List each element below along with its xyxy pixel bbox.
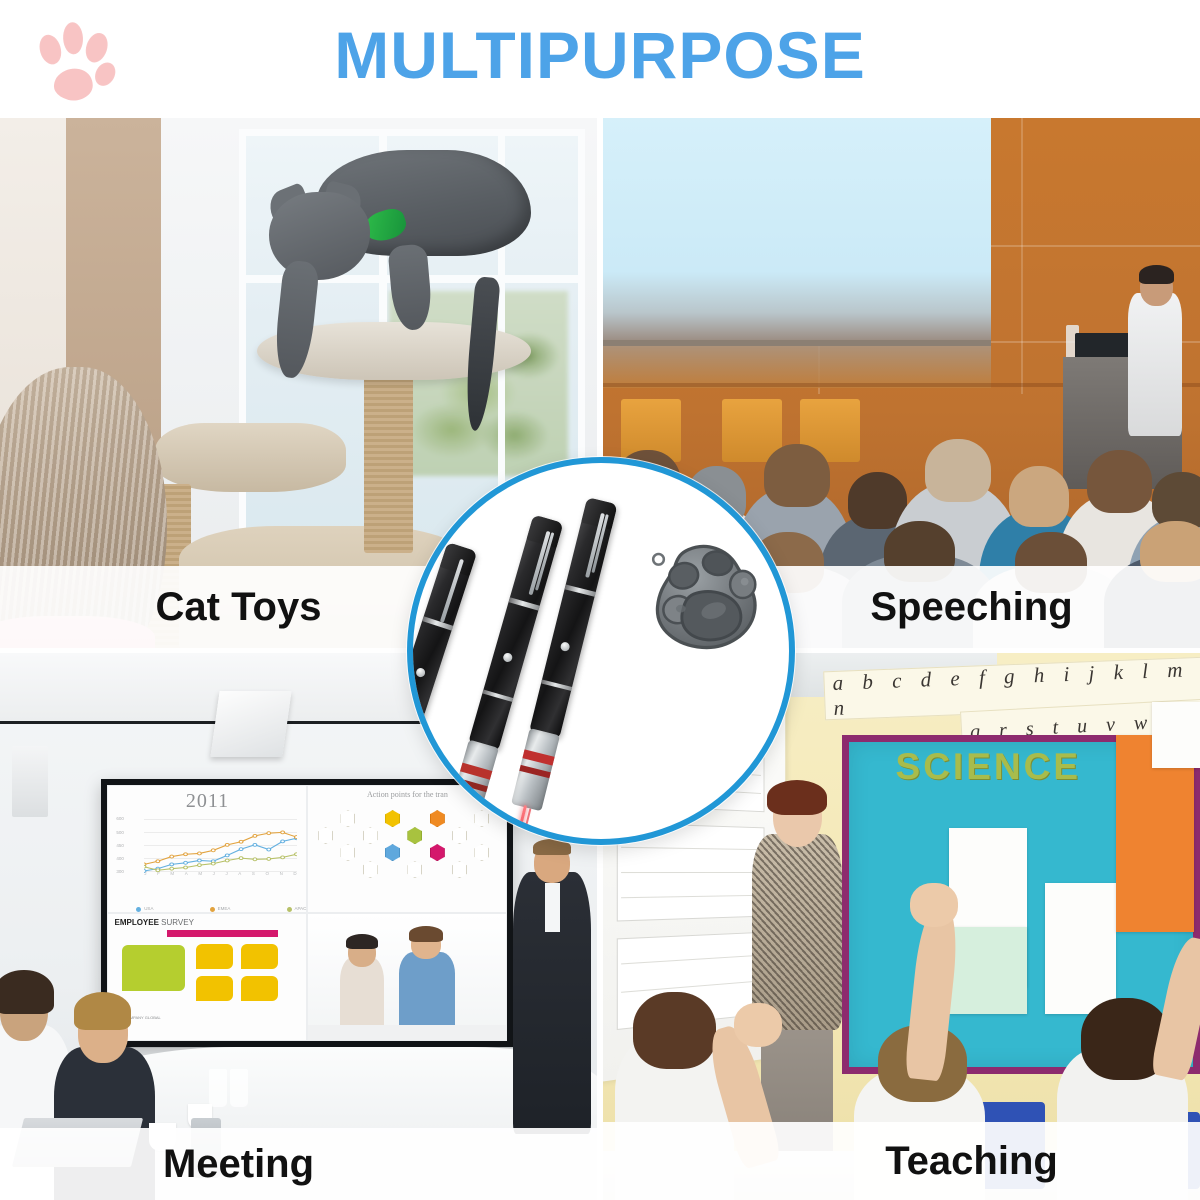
board-paper	[949, 927, 1027, 1015]
x-tick: M	[170, 871, 174, 876]
x-tick: F	[157, 871, 160, 876]
survey-bubble	[196, 944, 233, 969]
x-tick: S	[252, 871, 255, 876]
x-tick: M	[198, 871, 202, 876]
presentation-screen: 2011 600 500 450 400	[101, 779, 513, 1047]
legend-item: EMEA	[210, 906, 231, 911]
cat-head	[269, 192, 370, 279]
survey-highlight-bar	[167, 930, 279, 937]
line-chart: 600 500 450 400 300 JFMAMJJASOND	[114, 813, 300, 886]
screen-panel-survey: EMPLOYEE SURVEY COMPANY GLOBAL	[107, 913, 307, 1041]
survey-bubble-main	[122, 945, 185, 990]
screen-panel-photo	[307, 913, 507, 1041]
caption-teaching: Teaching	[603, 1122, 1200, 1200]
science-board-label: SCIENCE	[896, 746, 1081, 788]
caption-label: Speeching	[870, 585, 1072, 630]
board-paper	[1152, 702, 1200, 768]
y-tick: 450	[116, 843, 124, 848]
survey-bubble	[196, 976, 233, 1001]
chart-legend: USA EMEA APAC	[136, 906, 306, 911]
x-tick: J	[213, 871, 215, 876]
caption-label: Cat Toys	[156, 585, 322, 630]
survey-bubble	[241, 976, 278, 1001]
survey-title-bold: EMPLOYEE	[114, 918, 158, 927]
chart-title: 2011	[114, 790, 300, 813]
y-tick: 400	[116, 856, 124, 861]
survey-title: EMPLOYEE SURVEY	[114, 918, 300, 927]
chart-series-plot	[144, 816, 296, 875]
x-tick: D	[293, 871, 296, 876]
x-tick: A	[238, 871, 241, 876]
paw-silicone-keychain	[645, 539, 763, 659]
legend-item: APAC	[287, 906, 307, 911]
survey-bubble	[241, 944, 278, 969]
x-tick: J	[144, 871, 146, 876]
infographic-page: MULTIPURPOSE	[0, 0, 1200, 1200]
caption-label: Teaching	[885, 1139, 1058, 1184]
x-tick: N	[280, 871, 283, 876]
projector	[210, 691, 291, 757]
x-tick: O	[265, 871, 269, 876]
teacher-person	[752, 834, 842, 1031]
header: MULTIPURPOSE	[0, 0, 1200, 118]
caption-meeting: Meeting	[0, 1128, 597, 1200]
y-tick: 300	[116, 869, 124, 874]
screen-panel-chart: 2011 600 500 450 400	[107, 785, 307, 913]
chart-x-axis: JFMAMJJASOND	[144, 871, 296, 876]
x-tick: A	[185, 871, 188, 876]
y-tick: 500	[116, 830, 124, 835]
survey-title-light: SURVEY	[161, 918, 194, 927]
caption-label: Meeting	[163, 1142, 314, 1187]
product-callout-circle	[407, 457, 795, 845]
legend-item: USA	[136, 906, 153, 911]
x-tick: J	[225, 871, 227, 876]
board-paper	[1045, 883, 1117, 1014]
y-tick: 600	[116, 816, 124, 821]
page-title: MULTIPURPOSE	[0, 10, 1200, 100]
projection-screen	[603, 118, 991, 346]
